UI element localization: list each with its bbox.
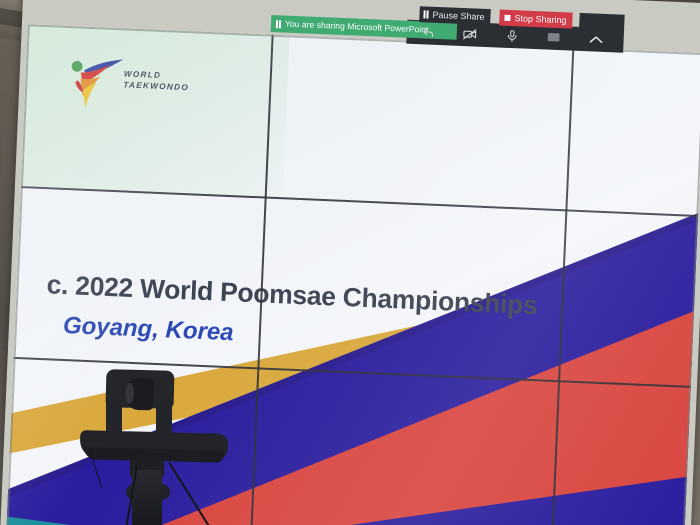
stop-square-icon	[504, 15, 510, 21]
screenshot-root: WORLD TAEKWONDO c. 2022 World Poomsae Ch…	[0, 0, 700, 525]
camera-lens	[123, 378, 154, 411]
back-arrow-icon[interactable]	[406, 20, 449, 46]
ptz-conference-camera	[78, 366, 253, 525]
tripod-column	[132, 470, 162, 525]
pause-icon	[423, 10, 428, 18]
share-screen-icon[interactable]	[532, 25, 575, 51]
video-off-icon[interactable]	[448, 21, 491, 47]
microphone-icon[interactable]	[490, 23, 533, 49]
chevron-up-icon[interactable]	[574, 27, 617, 53]
camera-cable-1	[169, 462, 215, 525]
pause-icon	[276, 20, 281, 28]
